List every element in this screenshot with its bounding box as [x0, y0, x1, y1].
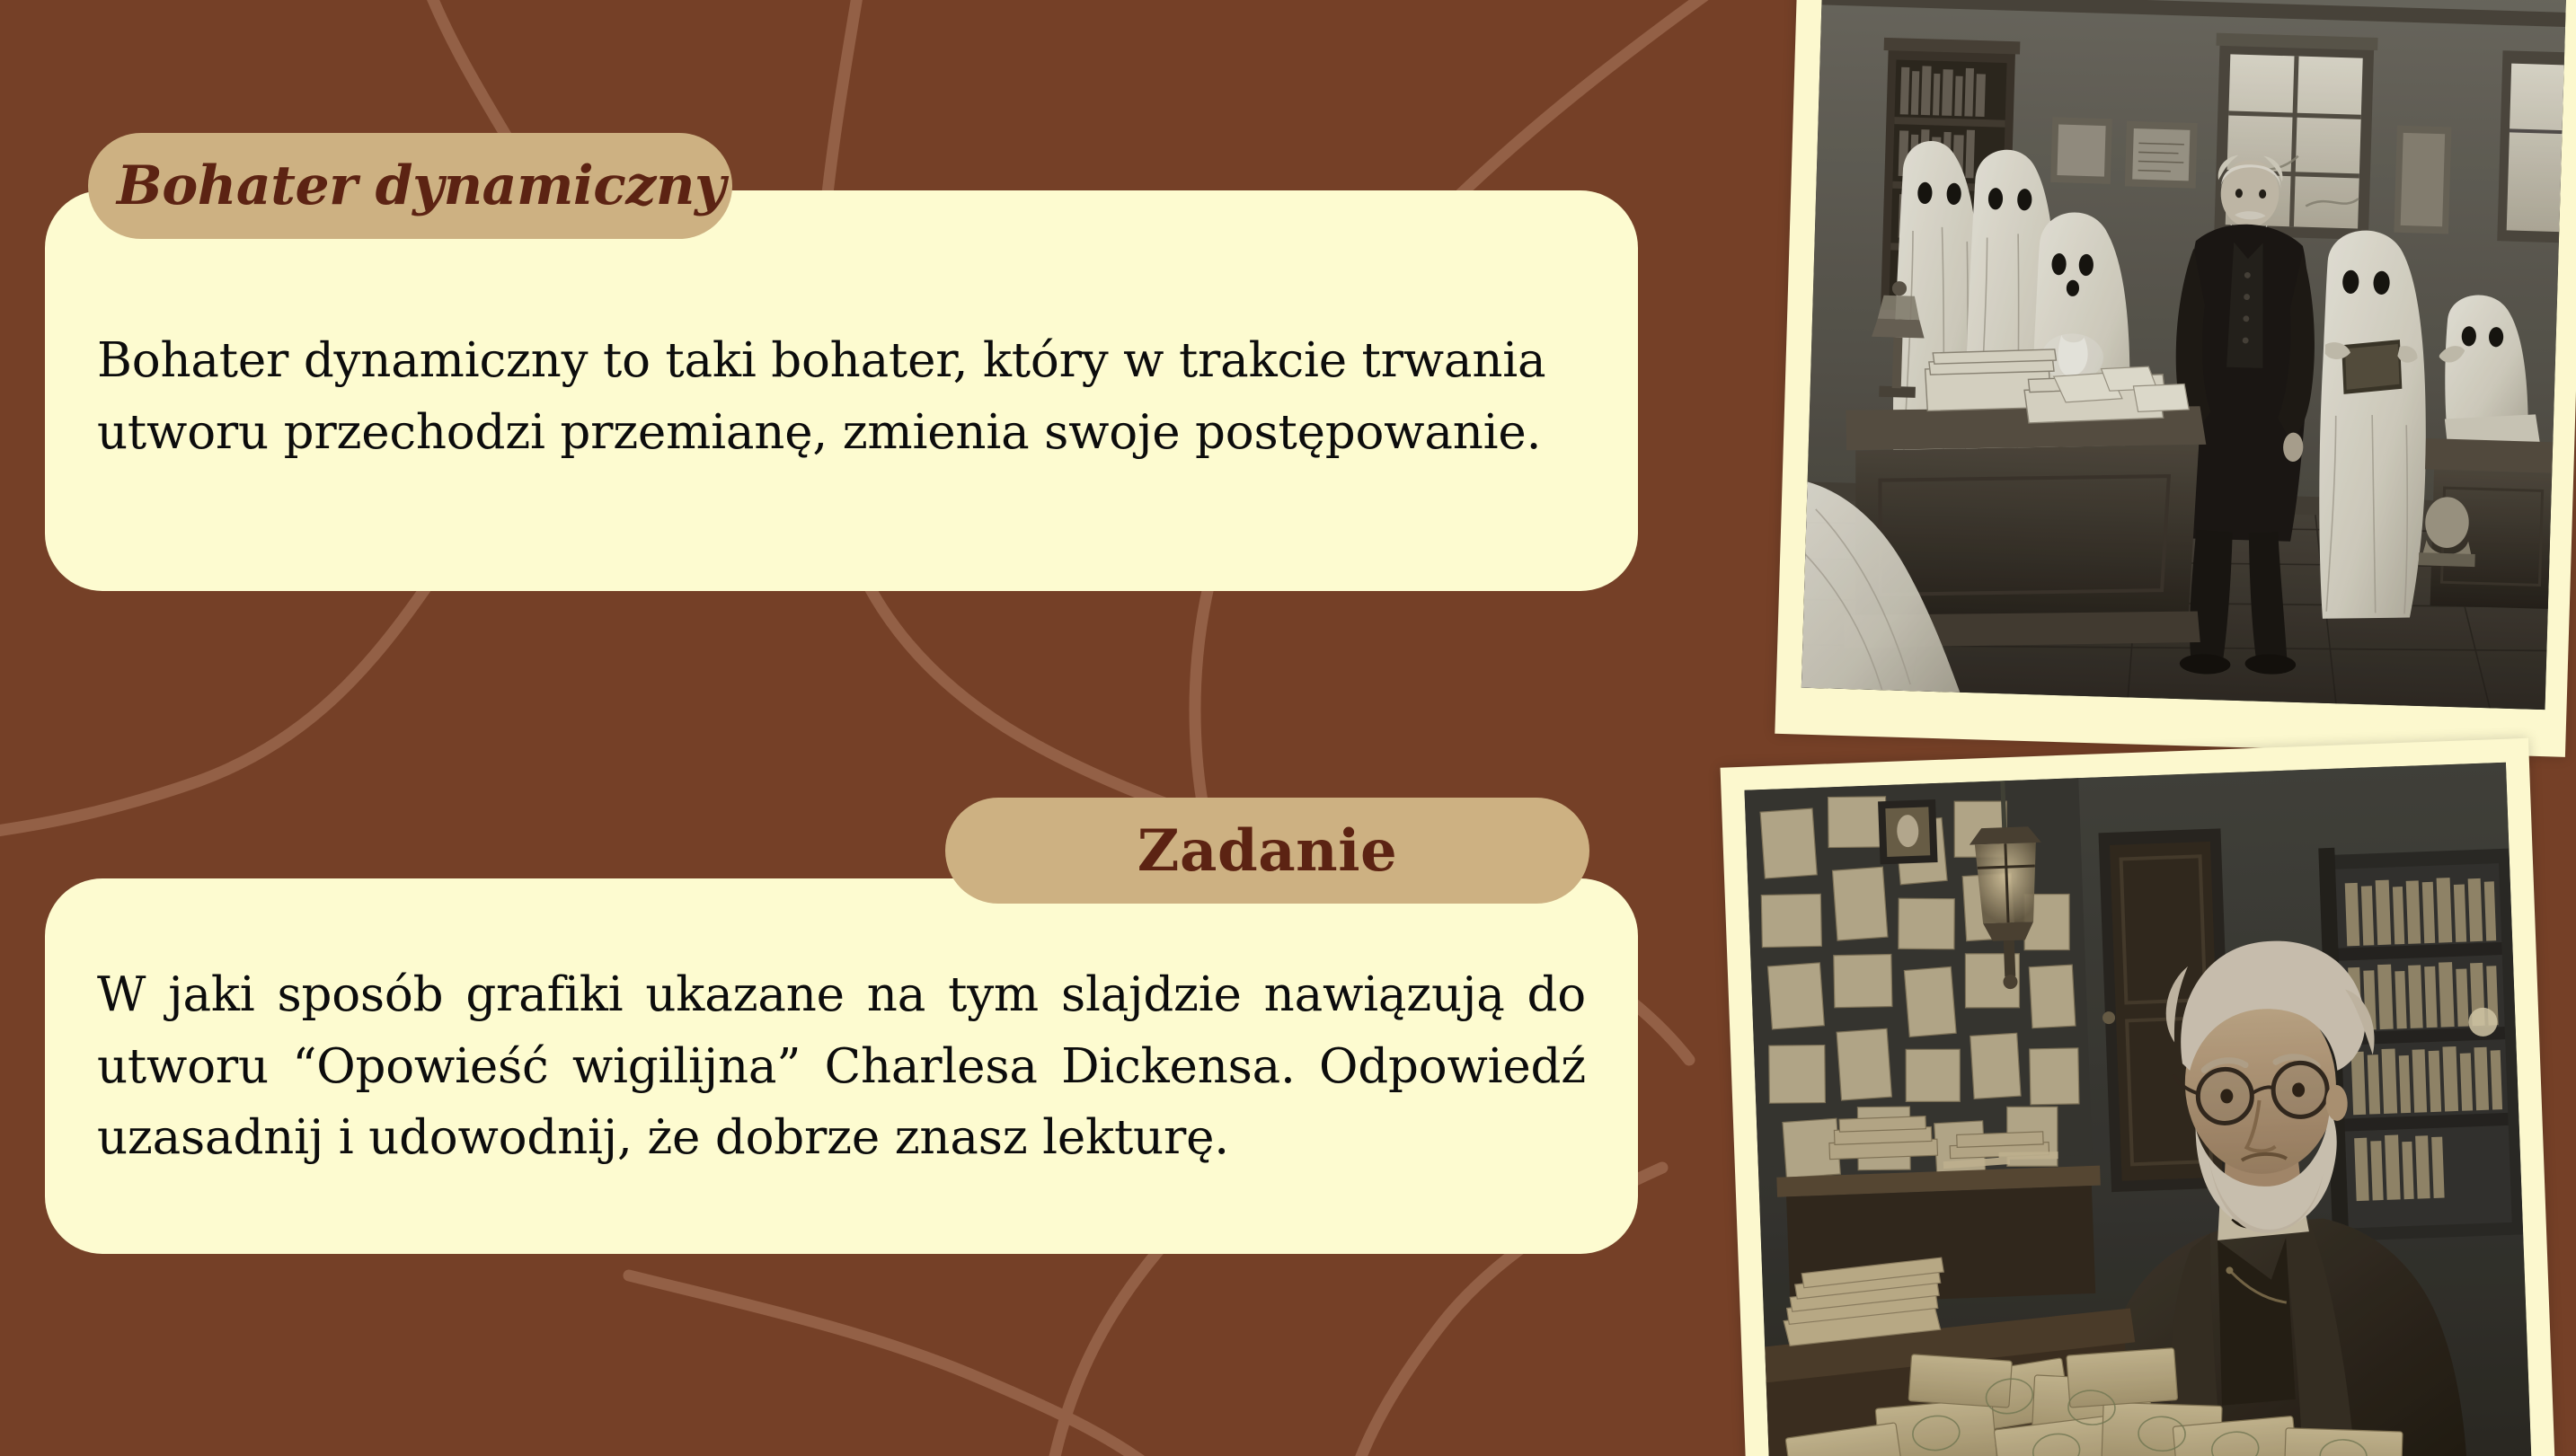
ghosts-in-office-illustration — [1801, 0, 2566, 710]
photo-frame-ghosts — [1775, 0, 2576, 757]
task-body-text: W jaki sposób grafiki ukazane na tym sla… — [45, 959, 1638, 1174]
badge-bohater-dynamiczny: Bohater dynamiczny — [88, 133, 732, 239]
badge-zadanie-label: Zadanie — [1138, 817, 1397, 885]
old-man-with-money-photo — [1744, 763, 2531, 1456]
ghosts-in-office-artwork — [1801, 0, 2566, 710]
photo-frame-scrooge — [1721, 738, 2557, 1456]
definition-body-text: Bohater dynamiczny to taki bohater, któr… — [45, 325, 1638, 468]
definition-card: Bohater dynamiczny to taki bohater, któr… — [45, 190, 1638, 591]
badge-bohater-dynamiczny-label: Bohater dynamiczny — [117, 154, 725, 217]
task-card: W jaki sposób grafiki ukazane na tym sla… — [45, 878, 1638, 1254]
slide-canvas: Bohater dynamiczny to taki bohater, któr… — [0, 0, 2576, 1456]
badge-zadanie: Zadanie — [945, 798, 1589, 904]
old-man-with-money-artwork — [1744, 763, 2531, 1456]
